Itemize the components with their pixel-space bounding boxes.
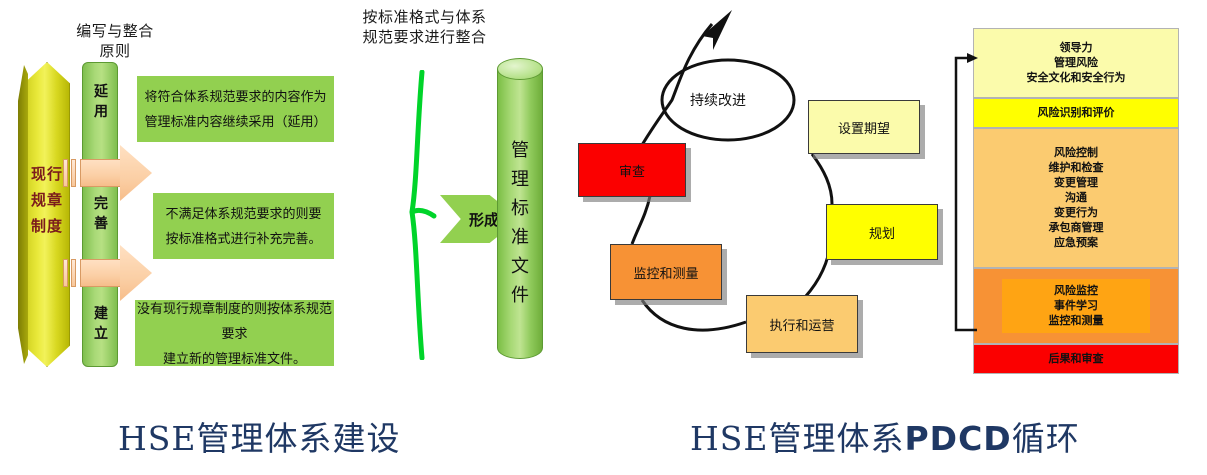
content-box-2-line2: 建立新的管理标准文件。 xyxy=(163,346,306,371)
stack-segment-risk-control-line-4: 变更行为 xyxy=(1049,206,1104,221)
left-diagram-title: HSE管理体系建设 xyxy=(118,412,400,460)
arrow-tick-2 xyxy=(71,159,76,187)
stack-segment-risk-control-line-3: 沟通 xyxy=(1049,191,1104,206)
principle-item-2: 建立 xyxy=(91,303,111,343)
right-title-bold: PDCD xyxy=(904,419,1011,458)
content-box-2: 没有现行规章制度的则按体系规范要求 建立新的管理标准文件。 xyxy=(135,300,334,366)
pdca-box-plan-label: 规划 xyxy=(869,223,895,242)
stack-segment-consequence-review: 后果和审查 xyxy=(973,344,1179,374)
left-diagram-title-text: HSE管理体系建设 xyxy=(118,419,400,458)
right-title-prefix: HSE xyxy=(690,419,768,458)
cylinder-label: 管理标准文件 xyxy=(508,136,532,310)
stack-segment-leadership-line-1: 管理风险 xyxy=(1027,56,1126,71)
pdca-cycle-diagram: 持续改进 审查 监控和测量 执行和运营 规划 设置期望 xyxy=(560,0,980,400)
stack-segment-risk-monitoring: 风险监控 事件学习 监控和测量 xyxy=(973,268,1179,344)
stack-segment-risk-monitoring-line-0: 风险监控 xyxy=(1049,284,1104,299)
arrow-tick-2 xyxy=(71,259,76,287)
olive-bevel xyxy=(18,65,28,364)
grouping-brace xyxy=(408,70,438,360)
pdca-box-monitor-measure-label: 监控和测量 xyxy=(633,263,698,282)
pdca-box-monitor-measure: 监控和测量 xyxy=(610,244,722,300)
flow-arrow-1 xyxy=(62,145,152,201)
right-diagram-title: HSE管理体系PDCD循环 xyxy=(690,412,1080,460)
stack-segment-leadership: 领导力 管理风险 安全文化和安全行为 xyxy=(973,28,1179,98)
hse-construction-diagram: 编写与整合 原则 按标准格式与体系 规范要求进行整合 现行规章制度 延用 完善 … xyxy=(0,0,600,400)
source-regulations-shape: 现行规章制度 xyxy=(18,62,70,367)
stack-segment-leadership-line-0: 领导力 xyxy=(1027,41,1126,56)
heading-integration-line1: 按标准格式与体系 xyxy=(337,8,512,28)
content-box-1-line1: 不满足体系规范要求的则要 xyxy=(165,201,321,226)
content-box-0-line2: 管理标准内容继续采用（延用） xyxy=(144,109,326,134)
right-title-cn-2: 循环 xyxy=(1012,419,1080,458)
pdca-box-set-expectations: 设置期望 xyxy=(808,100,920,154)
content-box-1-line2: 按标准格式进行补充完善。 xyxy=(165,226,321,251)
heading-integration-line2: 规范要求进行整合 xyxy=(337,28,512,48)
content-box-1: 不满足体系规范要求的则要 按标准格式进行补充完善。 xyxy=(153,193,334,259)
continuous-improvement-label: 持续改进 xyxy=(690,90,746,110)
heading-principles-line1: 编写与整合 xyxy=(40,22,190,42)
pdca-box-review: 审查 xyxy=(578,143,686,197)
hse-element-stack: 领导力 管理风险 安全文化和安全行为 风险识别和评价 风险控制 维护和检查 变更… xyxy=(973,28,1179,374)
content-box-0-line1: 将符合体系规范要求的内容作为 xyxy=(144,84,326,109)
stack-segment-leadership-line-2: 安全文化和安全行为 xyxy=(1027,71,1126,86)
pdca-box-set-expectations-label: 设置期望 xyxy=(838,118,890,137)
diagram-canvas: 编写与整合 原则 按标准格式与体系 规范要求进行整合 现行规章制度 延用 完善 … xyxy=(0,0,1207,475)
chevron-form-label: 形成 xyxy=(461,209,499,230)
stack-segment-risk-control-line-6: 应急预案 xyxy=(1049,236,1104,251)
arrow-tick-1 xyxy=(63,159,68,187)
stack-segment-risk-control-line-5: 承包商管理 xyxy=(1049,221,1104,236)
stack-segment-risk-identification: 风险识别和评价 xyxy=(973,98,1179,128)
pdca-box-do-operate-label: 执行和运营 xyxy=(769,315,834,334)
right-title-cn-1: 管理体系 xyxy=(768,419,904,458)
pdca-box-plan: 规划 xyxy=(826,204,938,260)
principles-bar: 延用 完善 建立 xyxy=(82,62,118,367)
stack-segment-risk-control-line-2: 变更管理 xyxy=(1049,176,1104,191)
stack-segment-risk-monitoring-line-1: 事件学习 xyxy=(1049,299,1104,314)
content-box-0: 将符合体系规范要求的内容作为 管理标准内容继续采用（延用） xyxy=(137,76,334,142)
arrow-head xyxy=(120,245,152,301)
stack-segment-risk-control-line-0: 风险控制 xyxy=(1049,146,1104,161)
arrow-head xyxy=(120,145,152,201)
standard-document-cylinder: 管理标准文件 xyxy=(497,58,543,370)
stack-segment-risk-identification-line-0: 风险识别和评价 xyxy=(1038,106,1115,121)
cylinder-top xyxy=(497,58,543,80)
pdca-box-review-label: 审查 xyxy=(619,161,645,180)
stack-segment-risk-control-line-1: 维护和检查 xyxy=(1049,161,1104,176)
principle-item-0: 延用 xyxy=(91,81,111,121)
stack-segment-risk-monitoring-line-2: 监控和测量 xyxy=(1049,314,1104,329)
flow-arrow-2 xyxy=(62,245,152,301)
source-regulations-label: 现行规章制度 xyxy=(31,162,63,240)
pdca-box-do-operate: 执行和运营 xyxy=(746,295,858,353)
heading-principles-line2: 原则 xyxy=(40,42,190,62)
arrow-tick-1 xyxy=(63,259,68,287)
stack-feedback-arrow xyxy=(952,28,982,348)
stack-segment-consequence-review-line-0: 后果和审查 xyxy=(1049,352,1104,367)
content-box-2-line1: 没有现行规章制度的则按体系规范要求 xyxy=(135,296,334,346)
stack-segment-risk-control: 风险控制 维护和检查 变更管理 沟通 变更行为 承包商管理 应急预案 xyxy=(973,128,1179,268)
